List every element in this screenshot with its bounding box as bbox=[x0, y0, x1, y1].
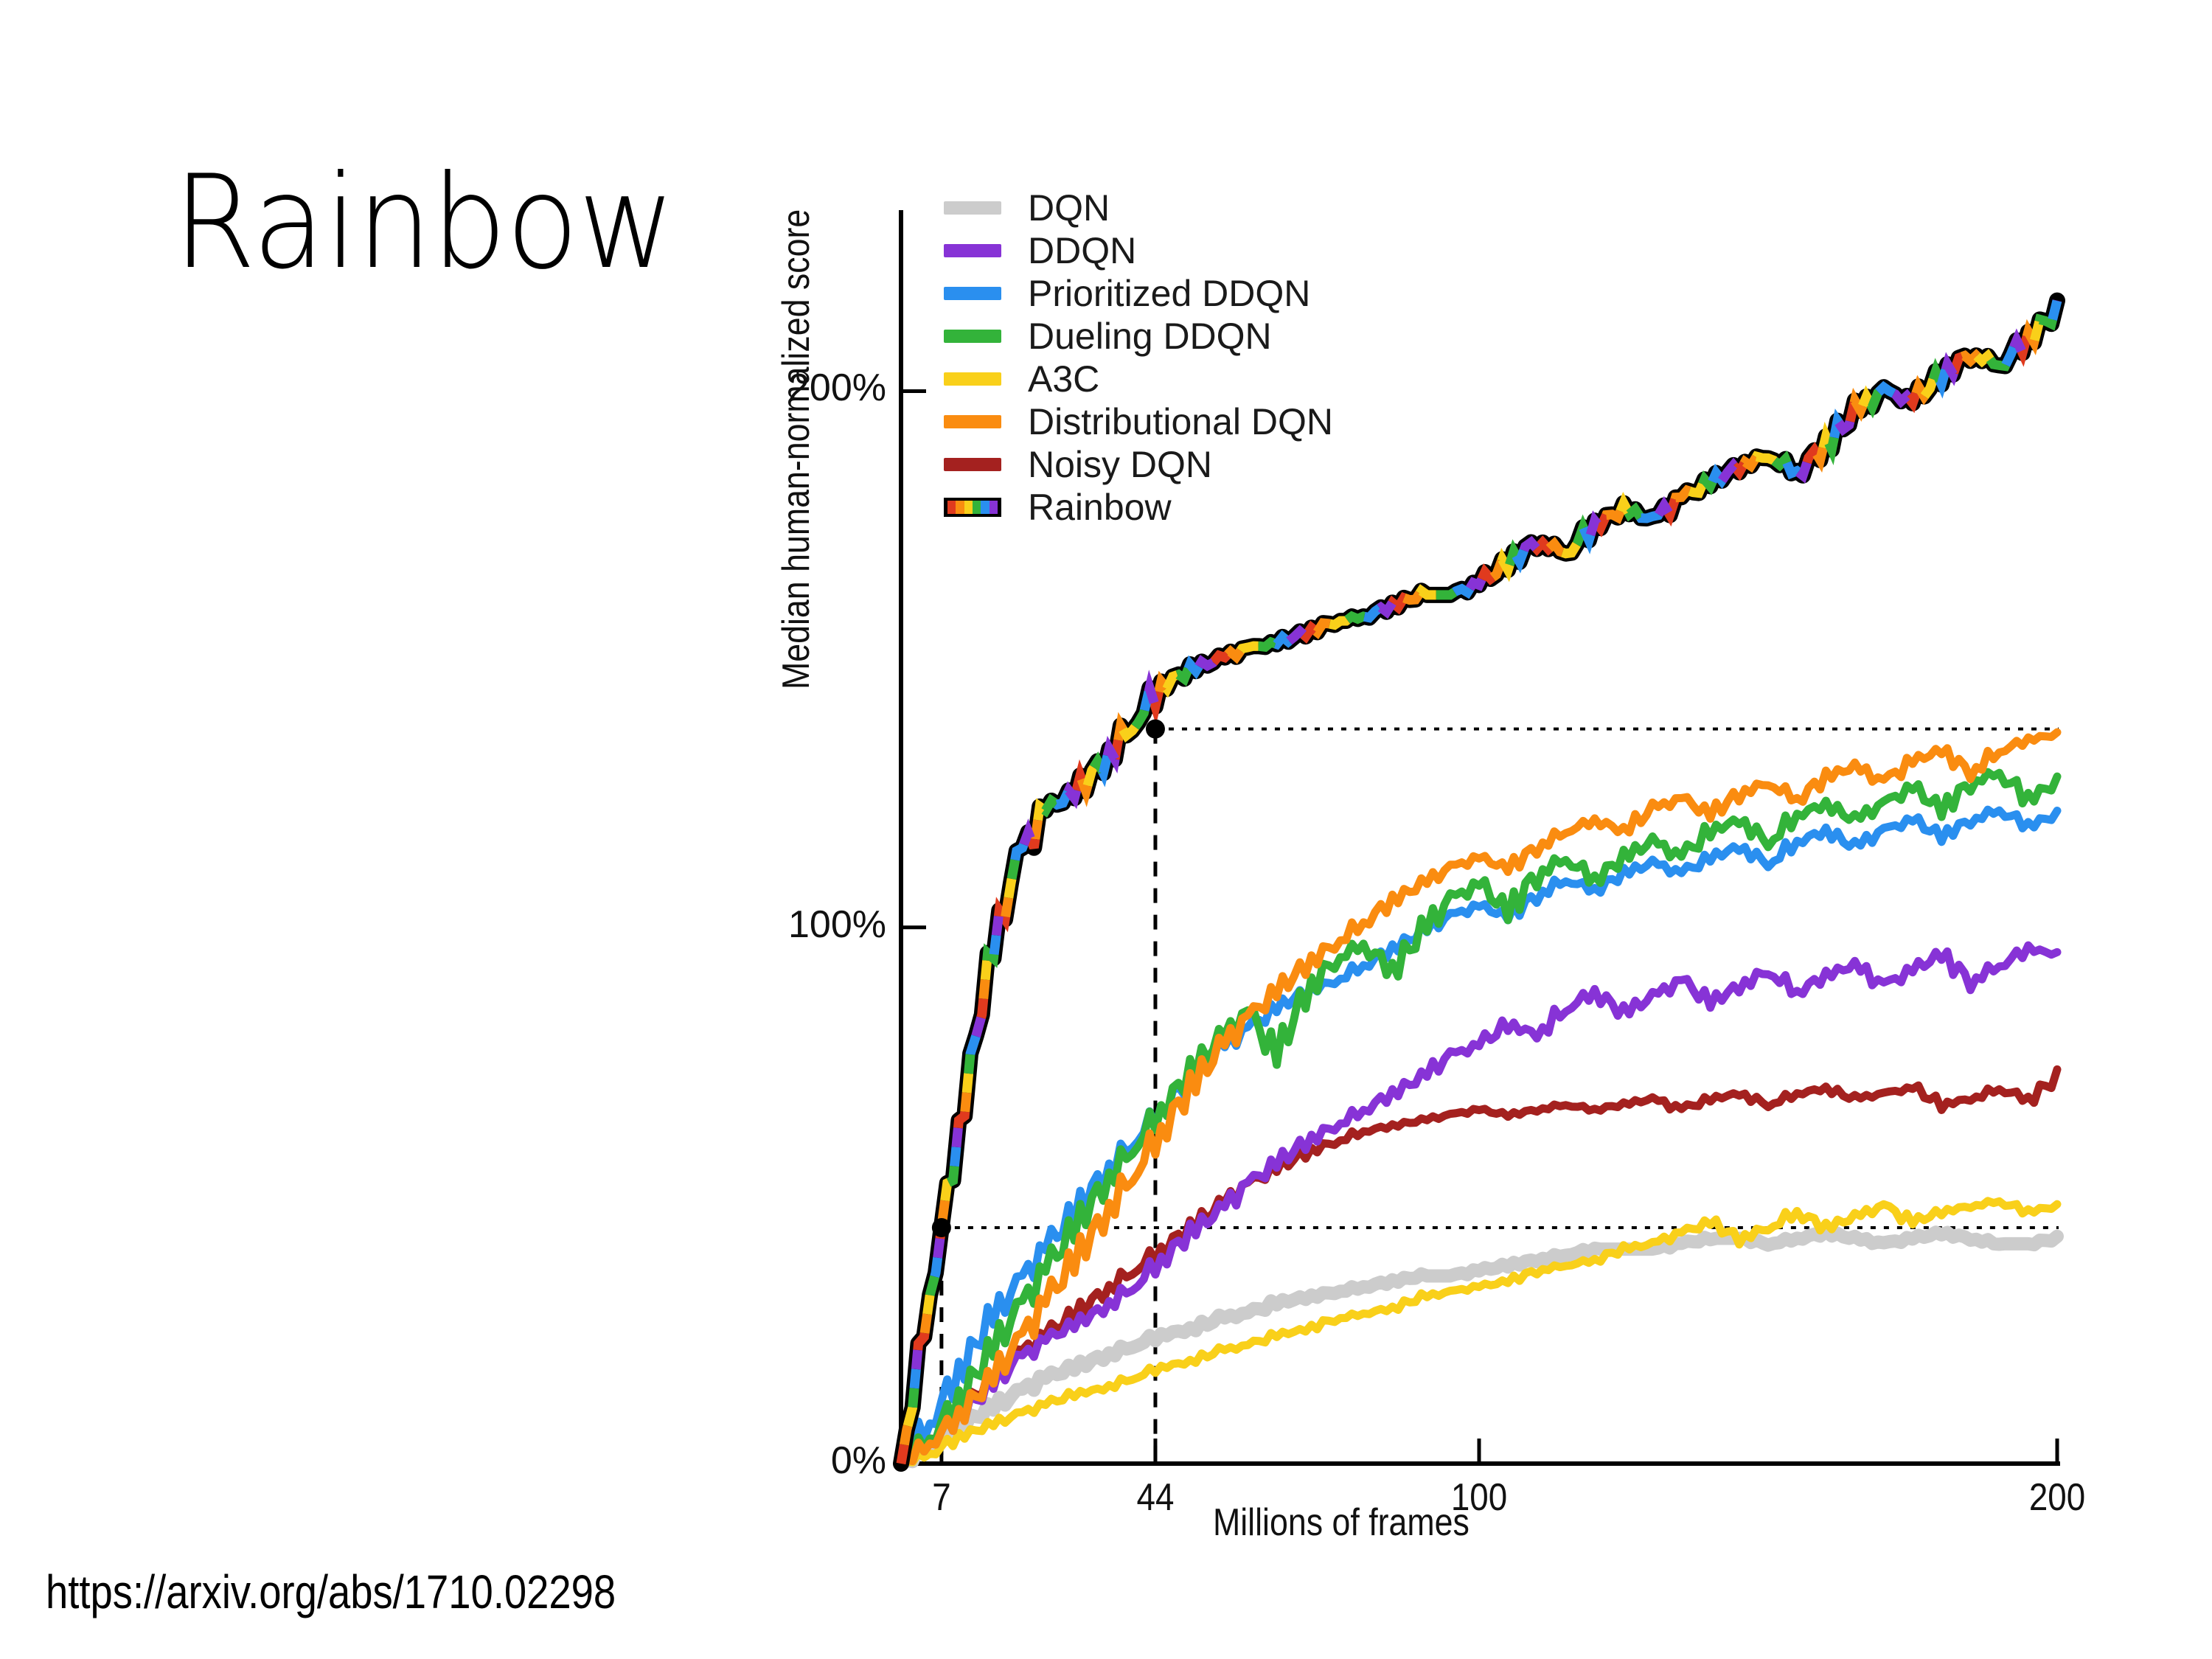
legend-color-swatch bbox=[944, 415, 1001, 428]
legend-swatch-segment bbox=[973, 501, 981, 514]
legend-swatch-segment bbox=[947, 501, 956, 514]
x-tick-label: 100 bbox=[1451, 1475, 1507, 1520]
legend-item-label: DDQN bbox=[1028, 229, 1136, 272]
legend-item[interactable]: Prioritized DDQN bbox=[944, 274, 1333, 313]
legend-color-swatch bbox=[944, 287, 1001, 300]
legend-item-label: Dueling DDQN bbox=[1028, 315, 1272, 358]
chart-legend: DQNDDQNPrioritized DDQNDueling DDQNA3CDi… bbox=[944, 188, 1333, 527]
legend-swatch-segment bbox=[956, 501, 964, 514]
legend-item-label: A3C bbox=[1028, 358, 1099, 400]
legend-item[interactable]: Rainbow bbox=[944, 487, 1333, 527]
legend-item-label: Rainbow bbox=[1028, 486, 1172, 529]
legend-swatch-segment bbox=[981, 501, 989, 514]
legend-color-swatch bbox=[944, 372, 1001, 386]
legend-item[interactable]: Noisy DQN bbox=[944, 445, 1333, 484]
legend-item[interactable]: DQN bbox=[944, 188, 1333, 228]
annotation-marker bbox=[1146, 720, 1165, 739]
legend-color-swatch bbox=[944, 201, 1001, 215]
y-tick-label: 100% bbox=[788, 902, 886, 947]
y-tick-label: 0% bbox=[831, 1439, 886, 1483]
legend-item[interactable]: DDQN bbox=[944, 231, 1333, 271]
legend-color-swatch bbox=[944, 458, 1001, 471]
legend-swatch-segment bbox=[964, 501, 973, 514]
y-tick-label: 200% bbox=[788, 366, 886, 410]
legend-item[interactable]: Distributional DQN bbox=[944, 402, 1333, 442]
series-line-distributional-dqn bbox=[901, 732, 2057, 1464]
annotation-marker bbox=[932, 1218, 951, 1237]
legend-item-label: Prioritized DDQN bbox=[1028, 272, 1310, 315]
page-title: Rainbow bbox=[173, 159, 675, 288]
legend-color-swatch bbox=[944, 330, 1001, 343]
x-tick-label: 7 bbox=[932, 1475, 950, 1520]
legend-item[interactable]: Dueling DDQN bbox=[944, 316, 1333, 356]
legend-swatch-segment bbox=[990, 501, 998, 514]
legend-color-swatch bbox=[944, 244, 1001, 257]
chart-figure: Median human-normalized score Millions o… bbox=[804, 181, 2124, 1559]
x-axis-title: Millions of frames bbox=[1213, 1500, 1470, 1545]
x-tick-label: 200 bbox=[2029, 1475, 2085, 1520]
legend-item-label: Distributional DQN bbox=[1028, 400, 1333, 443]
legend-item-label: DQN bbox=[1028, 187, 1110, 229]
source-url-text: https://arxiv.org/abs/1710.02298 bbox=[46, 1565, 616, 1619]
legend-item-label: Noisy DQN bbox=[1028, 443, 1212, 486]
legend-item[interactable]: A3C bbox=[944, 359, 1333, 399]
slide-canvas: Rainbow https://arxiv.org/abs/1710.02298… bbox=[0, 0, 2212, 1659]
legend-color-swatch bbox=[944, 498, 1001, 517]
x-tick-label: 44 bbox=[1137, 1475, 1175, 1520]
